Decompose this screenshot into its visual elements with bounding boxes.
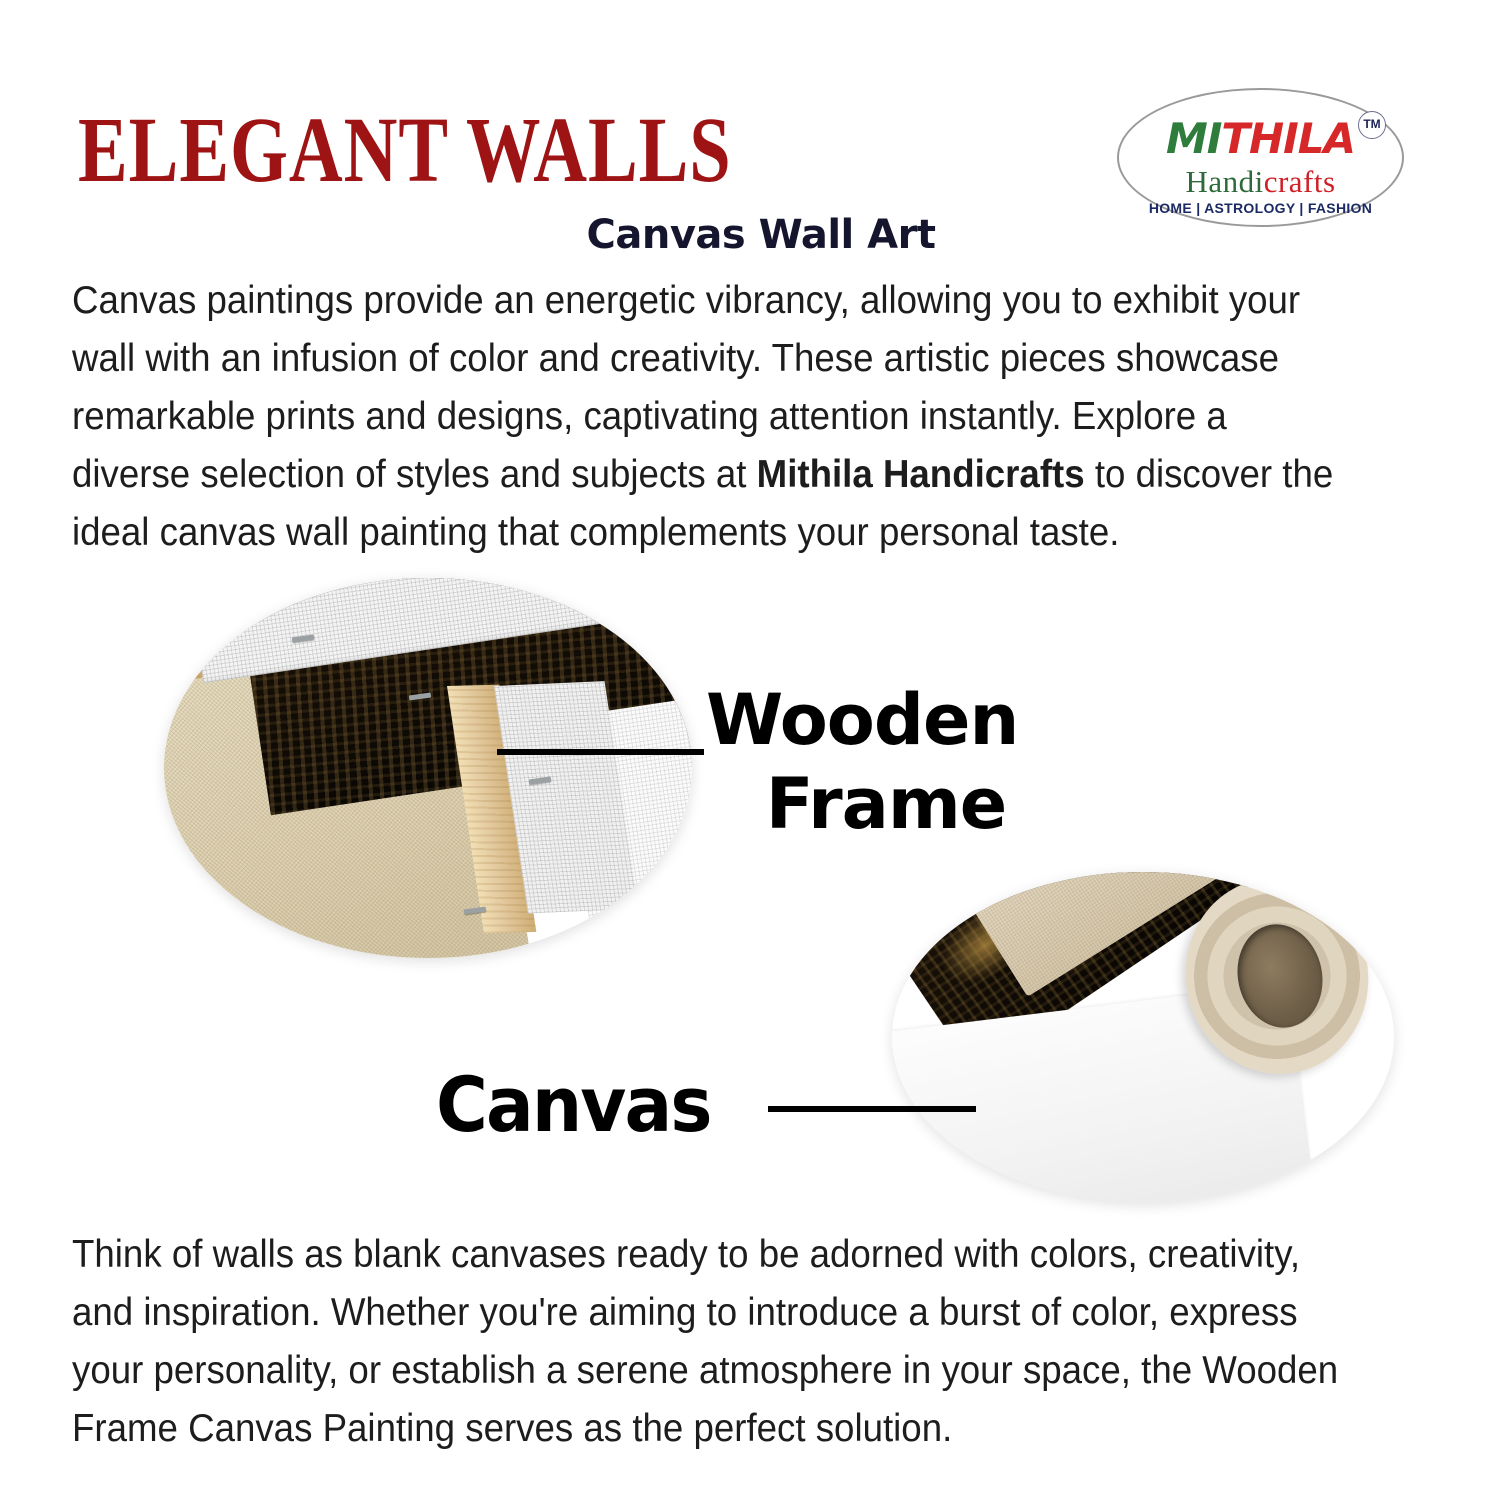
leader-line-canvas (768, 1106, 976, 1112)
wooden-frame-photo (164, 578, 692, 958)
logo-mithila-prefix: MI (1166, 114, 1221, 163)
canvas-roll-circle-crop (892, 872, 1394, 1202)
logo-mithila-suffix: THILA (1221, 114, 1355, 163)
canvas-roll-photo (892, 872, 1394, 1202)
logo-handicrafts-prefix: Handi (1185, 164, 1263, 199)
logo-handicrafts-suffix: crafts (1264, 164, 1336, 199)
callout-label-wooden-frame: Wooden Frame (706, 678, 1066, 846)
brand-logo: MITHILA TM Handicrafts HOME | ASTROLOGY … (1117, 88, 1404, 227)
trademark-icon: TM (1358, 111, 1386, 139)
intro-paragraph: Canvas paintings provide an energetic vi… (72, 272, 1347, 562)
logo-wordmark-handicrafts: Handicrafts (1117, 166, 1404, 197)
page-subtitle: Canvas Wall Art (0, 212, 1500, 258)
callout-wooden-frame-line1: Wooden (706, 678, 1066, 762)
callout-label-canvas: Canvas (436, 1067, 711, 1143)
callout-wooden-frame-line2: Frame (706, 762, 1066, 846)
leader-line-wooden-frame (497, 749, 704, 755)
closing-paragraph: Think of walls as blank canvases ready t… (72, 1226, 1347, 1458)
page-title: ELEGANT WALLS (78, 104, 732, 197)
wooden-frame-circle-crop (164, 578, 692, 958)
brand-mention: Mithila Handicrafts (757, 453, 1085, 496)
